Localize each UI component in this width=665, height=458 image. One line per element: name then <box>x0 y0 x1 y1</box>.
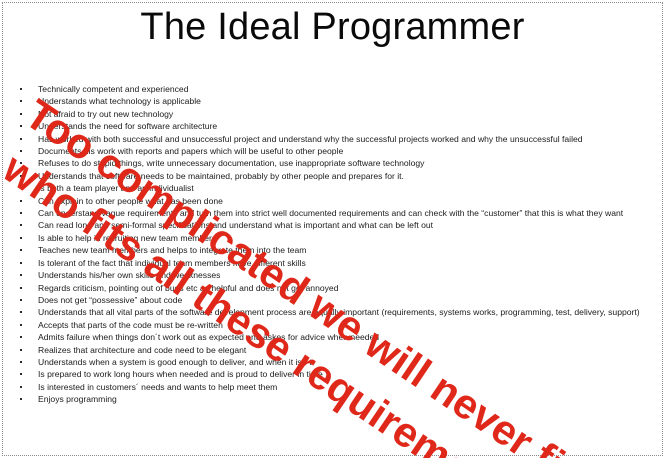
bullet-point-icon <box>20 113 22 115</box>
bullet-point-icon <box>20 162 22 164</box>
bullet-point-icon <box>20 336 22 338</box>
bullet-point-icon <box>20 287 22 289</box>
list-item-label: Accepts that parts of the code must be r… <box>38 320 223 330</box>
bullet-point-icon <box>20 386 22 388</box>
list-item: Teaches new team members and helps to in… <box>14 245 655 255</box>
list-item-label: Is prepared to work long hours when need… <box>38 369 323 379</box>
bullet-point-icon <box>20 311 22 313</box>
bullet-point-icon <box>20 212 22 214</box>
list-item-label: Does not get “possessive” about code <box>38 295 182 305</box>
list-item: Realizes that architecture and code need… <box>14 345 655 355</box>
list-item: Admits failure when things don´t work ou… <box>14 332 655 342</box>
list-item-label: Is tolerant of the fact that individual … <box>38 258 306 268</box>
bullet-point-icon <box>20 262 22 264</box>
bullet-point-icon <box>20 138 22 140</box>
list-item: Is prepared to work long hours when need… <box>14 369 655 379</box>
list-item-label: Understands that all vital parts of the … <box>38 307 640 317</box>
list-item: Is both a team player and an individuali… <box>14 183 655 193</box>
list-item-label: Technically competent and experienced <box>38 84 188 94</box>
list-item: Accepts that parts of the code must be r… <box>14 320 655 330</box>
list-item-label: Has worked with both successful and unsu… <box>38 134 583 144</box>
list-item: Understands that all vital parts of the … <box>14 307 655 317</box>
list-item-label: Realizes that architecture and code need… <box>38 345 246 355</box>
bullet-point-icon <box>20 150 22 152</box>
list-item: Understands when a system is good enough… <box>14 357 655 367</box>
list-item-label: Understands his/her own skills and weakn… <box>38 270 220 280</box>
bullet-point-icon <box>20 125 22 127</box>
list-item: Is tolerant of the fact that individual … <box>14 258 655 268</box>
bullet-point-icon <box>20 349 22 351</box>
list-item-label: Understands when a system is good enough… <box>38 357 312 367</box>
list-item: Has worked with both successful and unsu… <box>14 134 655 144</box>
bullet-point-icon <box>20 361 22 363</box>
list-item-label: Is both a team player and an individuali… <box>38 183 194 193</box>
bullet-point-icon <box>20 299 22 301</box>
bullet-point-icon <box>20 100 22 102</box>
list-item-label: Can explain to other people what has bee… <box>38 196 223 206</box>
list-item-label: Understands that software needs to be ma… <box>38 171 404 181</box>
list-item-label: Enjoys programming <box>38 394 117 404</box>
list-item: Enjoys programming <box>14 394 655 404</box>
slide-canvas: The Ideal Programmer Technically compete… <box>0 0 665 458</box>
list-item: Documents his work with reports and pape… <box>14 146 655 156</box>
bullet-point-icon <box>20 237 22 239</box>
bullet-point-icon <box>20 398 22 400</box>
bullet-point-icon <box>20 175 22 177</box>
bullet-point-icon <box>20 224 22 226</box>
page-title: The Ideal Programmer <box>0 6 665 49</box>
list-item-label: Admits failure when things don´t work ou… <box>38 332 379 342</box>
list-item: Can read long and semi-formal specificat… <box>14 220 655 230</box>
list-item-label: Understands the need for software archit… <box>38 121 217 131</box>
list-item: Is able to help in recruiting new team m… <box>14 233 655 243</box>
list-item: Not afraid to try out new technology <box>14 109 655 119</box>
list-item-label: Refuses to do stupid things, write unnec… <box>38 158 424 168</box>
bullet-point-icon <box>20 187 22 189</box>
bullet-point-icon <box>20 373 22 375</box>
list-item-label: Regards criticism, pointing out of bugs … <box>38 283 339 293</box>
list-item-label: Can understand vague requirements and tu… <box>38 208 623 218</box>
list-item: Technically competent and experienced <box>14 84 655 94</box>
list-item: Understands his/her own skills and weakn… <box>14 270 655 280</box>
bullet-point-icon <box>20 200 22 202</box>
list-item-label: Understands what technology is applicabl… <box>38 96 201 106</box>
list-item: Can explain to other people what has bee… <box>14 196 655 206</box>
bullet-point-icon <box>20 274 22 276</box>
list-item: Does not get “possessive” about code <box>14 295 655 305</box>
list-item: Regards criticism, pointing out of bugs … <box>14 283 655 293</box>
bullet-point-icon <box>20 88 22 90</box>
list-item: Refuses to do stupid things, write unnec… <box>14 158 655 168</box>
bullet-point-icon <box>20 324 22 326</box>
list-item: Can understand vague requirements and tu… <box>14 208 655 218</box>
bullet-point-icon <box>20 249 22 251</box>
list-item-label: Can read long and semi-formal specificat… <box>38 220 433 230</box>
list-item: Is interested in customers´ needs and wa… <box>14 382 655 392</box>
list-item: Understands the need for software archit… <box>14 121 655 131</box>
list-item: Understands that software needs to be ma… <box>14 171 655 181</box>
bullet-list: Technically competent and experiencedUnd… <box>14 84 655 407</box>
list-item-label: Teaches new team members and helps to in… <box>38 245 306 255</box>
list-item-label: Documents his work with reports and pape… <box>38 146 343 156</box>
list-item-label: Is interested in customers´ needs and wa… <box>38 382 277 392</box>
list-item-label: Not afraid to try out new technology <box>38 109 173 119</box>
list-item-label: Is able to help in recruiting new team m… <box>38 233 216 243</box>
list-item: Understands what technology is applicabl… <box>14 96 655 106</box>
